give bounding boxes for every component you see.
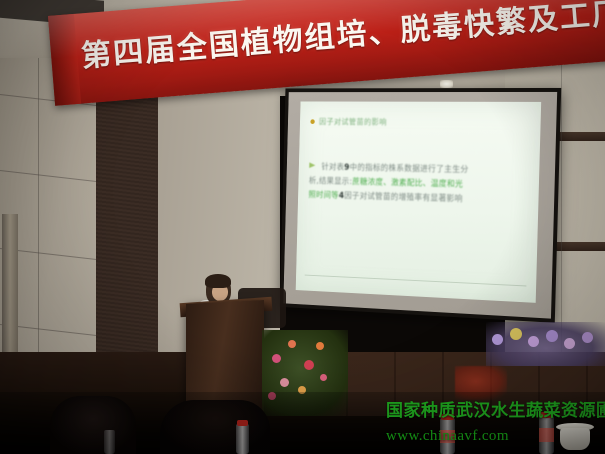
audience-silhouette (160, 400, 270, 454)
flower-bloom (510, 328, 522, 340)
foliage (486, 322, 605, 366)
flower-bloom (492, 334, 503, 345)
watermark-url: www.chinaavf.com (386, 428, 601, 445)
audience-silhouette (50, 396, 136, 454)
slide-text-b: 中的指标的株系数据进行了主生分 (350, 162, 469, 174)
flower-bloom (316, 342, 324, 350)
slide-canvas: 因子对试管苗的影响 针对表9中的指标的株系数据进行了主生分 析,结果显示:蔗糖浓… (296, 101, 541, 302)
slide-text-a: 针对表 (321, 162, 344, 172)
flower-bloom (564, 338, 575, 349)
flower-bloom (288, 340, 296, 348)
slide-footer-rule (305, 275, 527, 287)
slide-highlight-text: 照时间等 (308, 190, 339, 200)
photo-scene: 第四届全国植物组培、脱毒快繁及工厂化种苗生产技术学术 因子对试管苗的影响 针对表… (0, 0, 605, 454)
bottle-cap (237, 420, 248, 426)
left-wall-dark-strip (96, 62, 158, 370)
slide-title: 因子对试管苗的影响 (319, 117, 387, 128)
projection-screen: 因子对试管苗的影响 针对表9中的指标的株系数据进行了主生分 析,结果显示:蔗糖浓… (280, 88, 561, 323)
diamond-bullet-icon (310, 119, 314, 124)
presenter-hair (205, 274, 231, 288)
flower-bloom (546, 330, 558, 342)
flower-bloom (582, 332, 593, 343)
slide-title-row: 因子对试管苗的影响 (310, 117, 531, 129)
slide-highlight-text: 蔗糖浓度、激素配比、温度和光 (352, 176, 463, 188)
flower-bloom (528, 336, 539, 347)
ceiling-light (440, 80, 453, 88)
slide-text-a: 析,结果显示: (309, 176, 353, 186)
slide-text-b: 因子对试管苗的增殖率有显著影响 (344, 190, 463, 203)
flower-bloom (320, 374, 327, 381)
water-bottle (236, 424, 249, 454)
flower-bloom (280, 378, 289, 387)
watermark-organization: 国家种质武汉水生蔬菜资源圃 (386, 396, 601, 421)
slide-body: 针对表9中的指标的株系数据进行了主生分 析,结果显示:蔗糖浓度、激素配比、温度和… (308, 160, 527, 208)
water-bottle (104, 430, 115, 454)
floral-arrangement-right (486, 322, 605, 370)
watermark: 国家种质武汉水生蔬菜资源圃 www.chinaavf.com (386, 396, 601, 445)
flower-bloom (272, 354, 281, 363)
flower-bloom (304, 360, 314, 370)
